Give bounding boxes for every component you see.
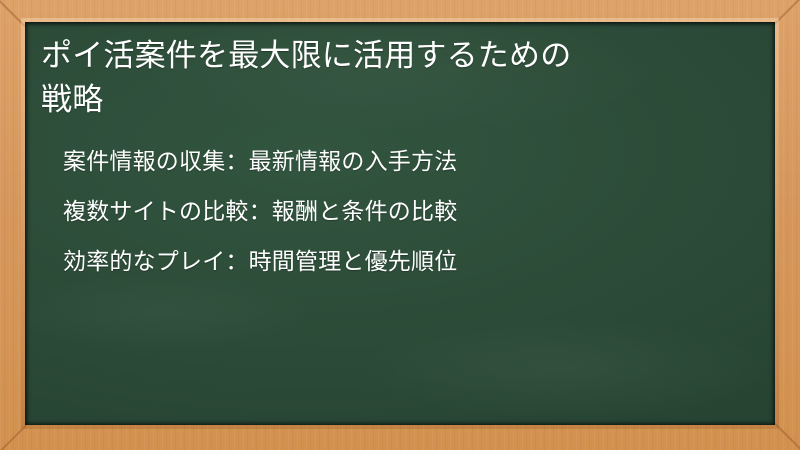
chalkboard-scene: ポイ活案件を最大限に活用するための 戦略 案件情報の収集：最新情報の入手方法 複… [0, 0, 800, 450]
list-item: 複数サイトの比較：報酬と条件の比較 [33, 200, 757, 223]
list-item: 効率的なプレイ：時間管理と優先順位 [33, 250, 757, 273]
board-content: ポイ活案件を最大限に活用するための 戦略 案件情報の収集：最新情報の入手方法 複… [25, 22, 775, 425]
list-item: 案件情報の収集：最新情報の入手方法 [33, 150, 757, 173]
chalkboard-slate: ポイ活案件を最大限に活用するための 戦略 案件情報の収集：最新情報の入手方法 複… [25, 22, 775, 425]
strategy-list: 案件情報の収集：最新情報の入手方法 複数サイトの比較：報酬と条件の比較 効率的な… [33, 150, 757, 273]
page-title: ポイ活案件を最大限に活用するための 戦略 [33, 34, 757, 122]
